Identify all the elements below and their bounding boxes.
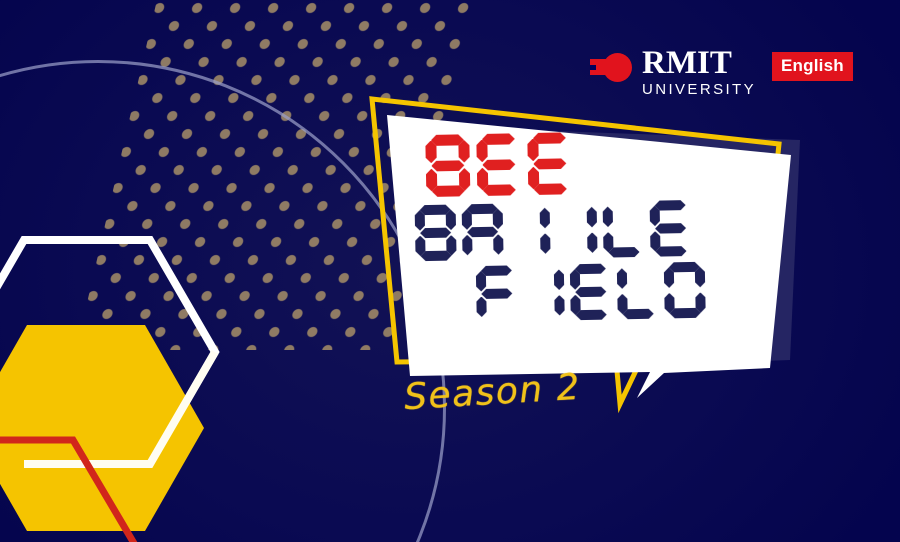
segment-d — [623, 309, 654, 320]
poster-canvas: Season 2 RMIT UNIVERSITY English — [0, 0, 900, 542]
segment-a — [669, 262, 700, 273]
seven-segment-glyph — [509, 203, 551, 260]
seven-segment-glyph — [650, 200, 692, 257]
segment-d — [534, 183, 567, 195]
segment-c — [493, 234, 503, 255]
segment-a — [655, 200, 686, 211]
seven-segment-glyph — [556, 202, 598, 259]
seven-segment-glyph — [527, 132, 572, 195]
seven-segment-glyph — [664, 262, 706, 319]
segment-g — [431, 160, 464, 172]
seven-segment-glyph — [476, 133, 521, 196]
headline-line-battle — [415, 199, 756, 262]
rmit-subtitle: UNIVERSITY — [642, 81, 756, 98]
seven-segment-glyph — [617, 263, 659, 320]
seven-segment-glyph — [570, 264, 612, 321]
seven-segment-glyph — [425, 134, 470, 197]
segment-a — [575, 264, 606, 275]
segment-d — [420, 251, 451, 262]
segment-g — [467, 227, 498, 238]
segment-c — [540, 233, 550, 254]
headline-line-field — [476, 261, 757, 322]
rmit-dot-notch — [590, 65, 596, 70]
segment-g — [481, 288, 512, 299]
segment-a — [420, 205, 451, 216]
segment-c — [587, 232, 597, 253]
segment-e — [476, 296, 486, 317]
seven-segment-glyph — [462, 204, 504, 261]
segment-a — [482, 133, 515, 145]
segment-b — [554, 269, 564, 290]
headline-line-bee — [425, 129, 754, 197]
segment-b — [587, 207, 597, 228]
segment-c — [554, 295, 564, 316]
seven-segment-glyph — [603, 201, 645, 258]
rmit-dot-circle — [603, 53, 632, 82]
headline-block — [413, 129, 757, 323]
segment-g — [575, 287, 606, 298]
segment-g — [655, 223, 686, 234]
segment-a — [533, 132, 566, 144]
segment-a — [467, 204, 498, 215]
segment-d — [655, 246, 686, 257]
seven-segment-glyph — [415, 204, 457, 261]
segment-f — [617, 268, 627, 289]
segment-d — [483, 184, 516, 196]
segment-g — [420, 228, 451, 239]
segment-d — [432, 185, 465, 197]
segment-a — [481, 265, 512, 276]
rmit-name: RMIT — [642, 48, 732, 78]
rmit-dot-icon — [590, 51, 632, 84]
english-badge: English — [772, 52, 853, 81]
segment-e — [462, 235, 472, 256]
segment-a — [431, 134, 464, 146]
segment-d — [576, 310, 607, 321]
segment-f — [603, 206, 613, 227]
segment-g — [533, 158, 566, 170]
rmit-wordmark: RMIT UNIVERSITY — [642, 48, 756, 98]
segment-d — [670, 308, 701, 319]
rmit-logo[interactable]: RMIT UNIVERSITY English — [590, 48, 853, 98]
seven-segment-glyph — [523, 264, 565, 321]
seven-segment-glyph — [476, 265, 518, 322]
segment-b — [540, 208, 550, 229]
segment-g — [482, 159, 515, 171]
segment-d — [608, 247, 639, 258]
